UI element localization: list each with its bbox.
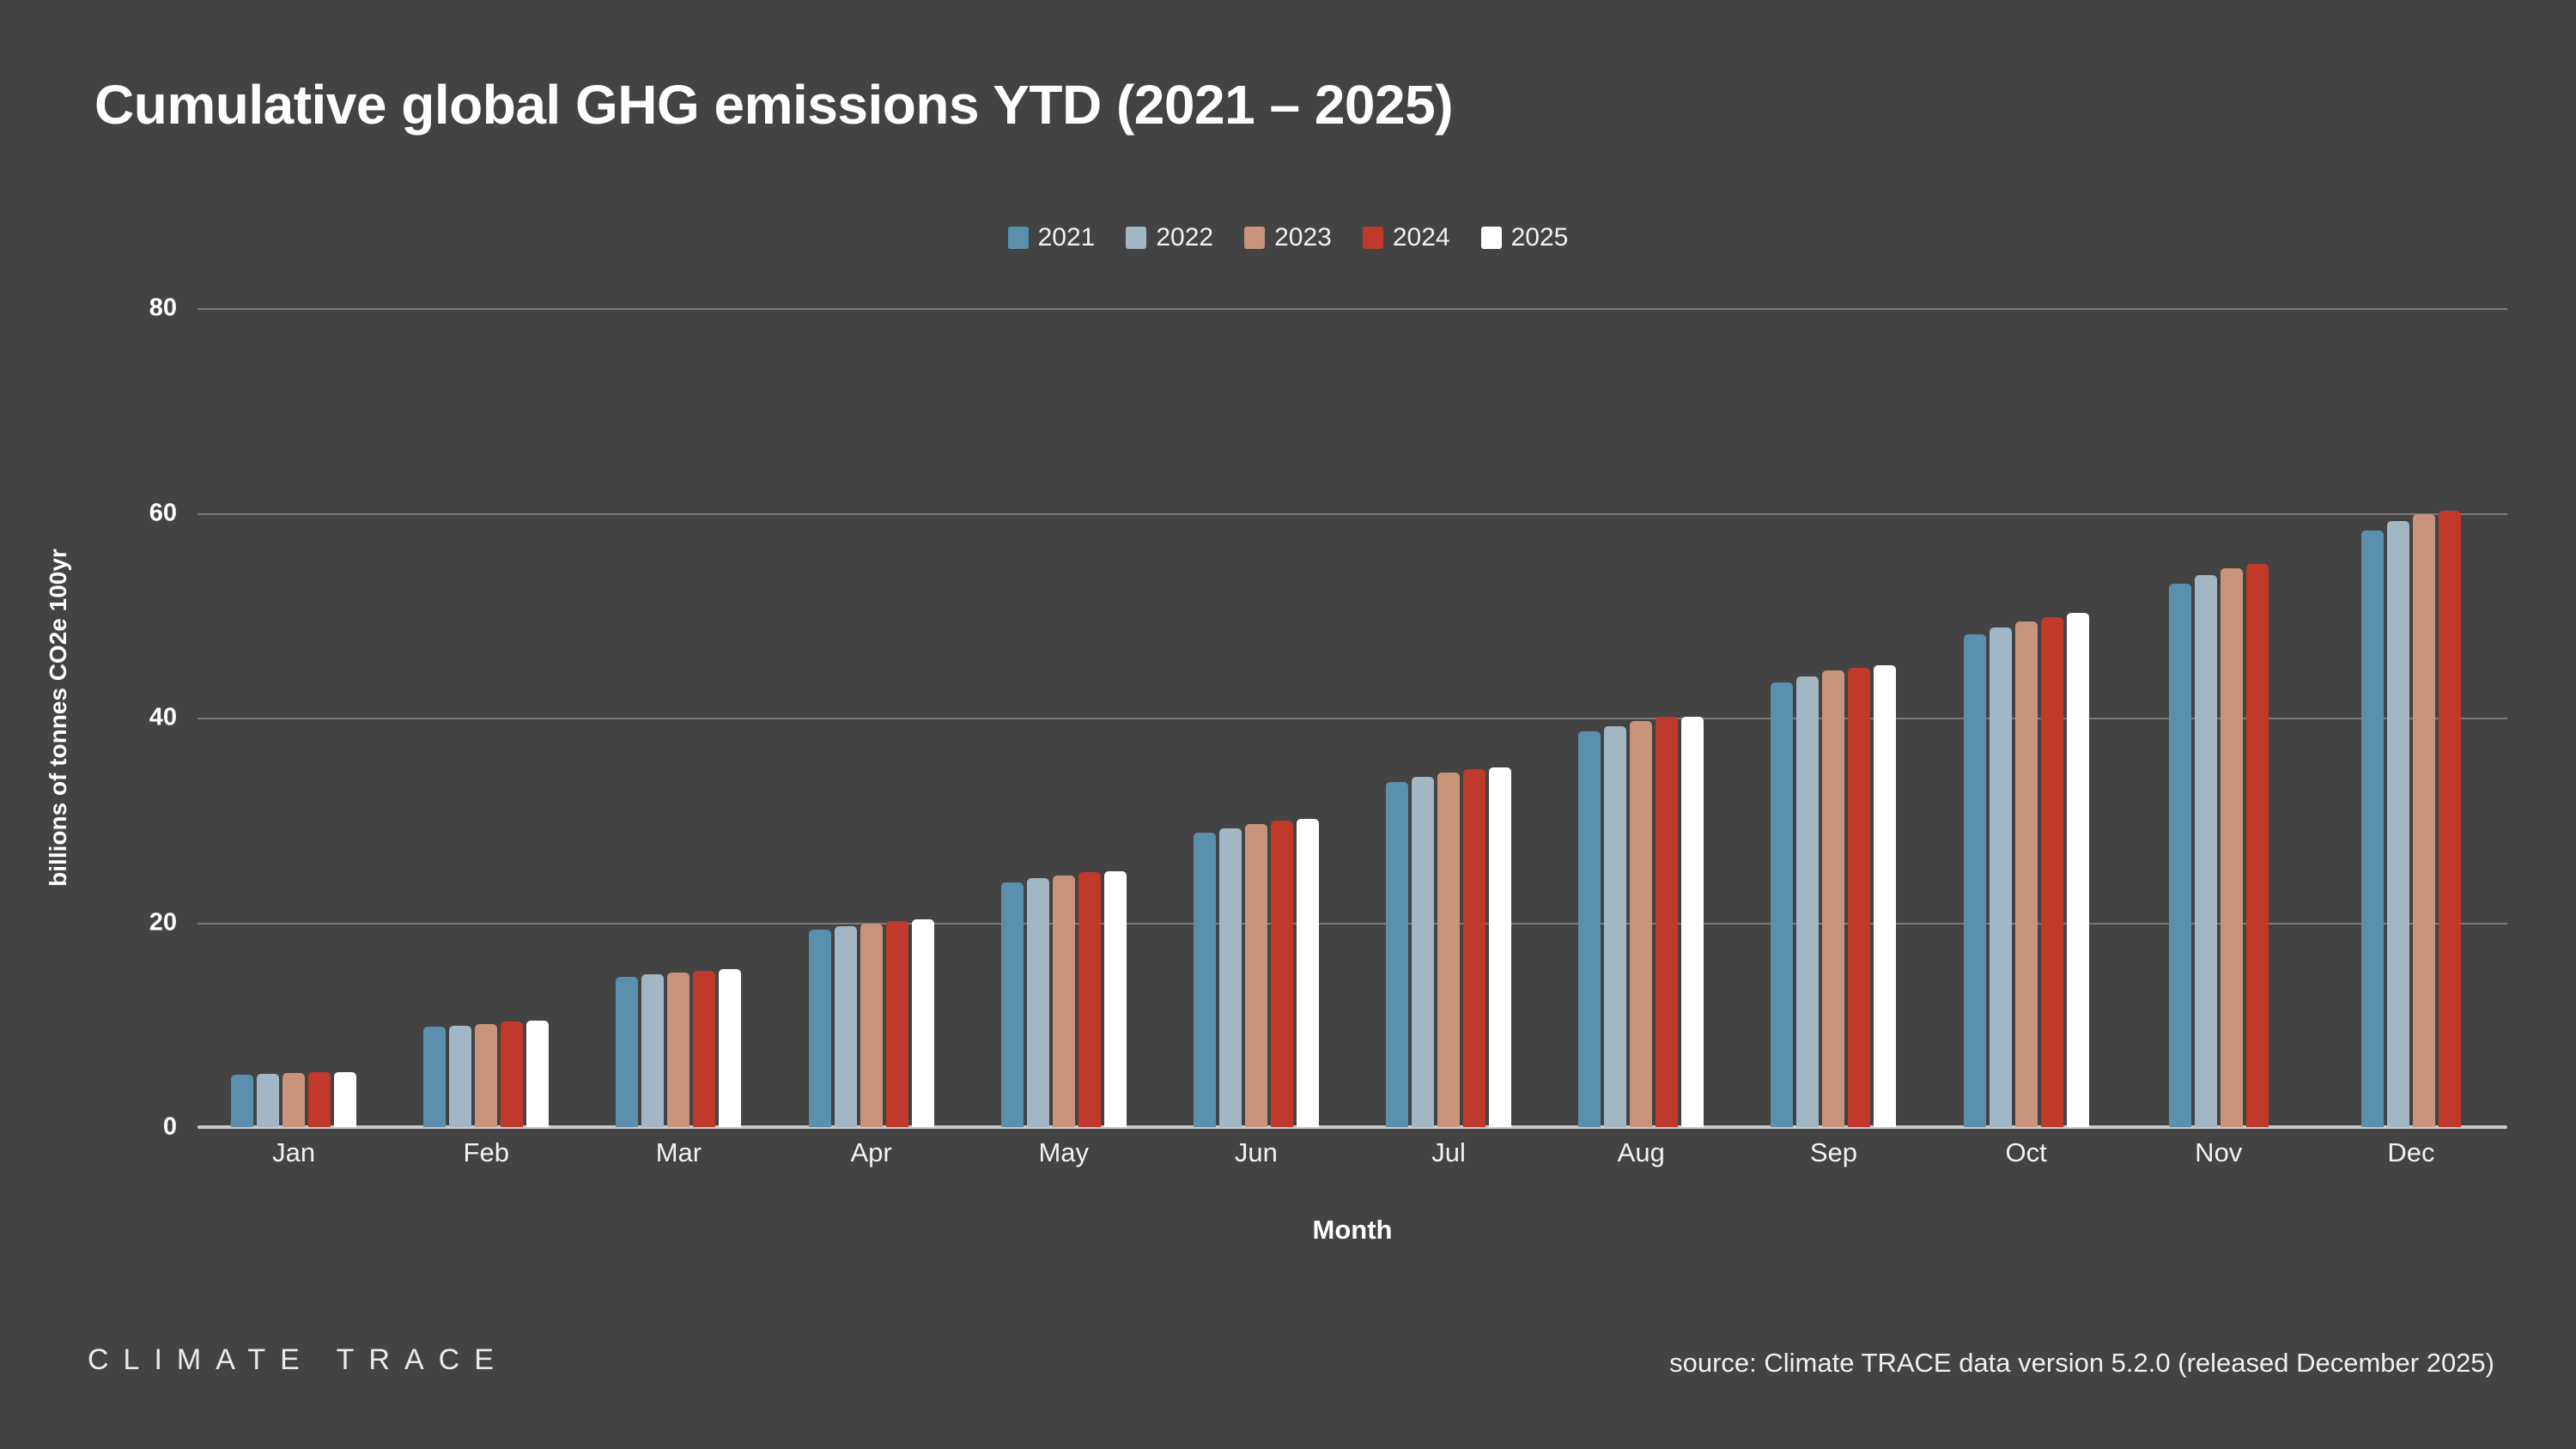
legend-label-2021: 2021 xyxy=(1038,225,1096,251)
x-tick-label-Mar: Mar xyxy=(656,1137,702,1168)
bar-Dec-2024[interactable] xyxy=(2439,511,2461,1127)
bar-Sep-2022[interactable] xyxy=(1796,676,1819,1127)
bar-group-Oct xyxy=(1930,308,2123,1127)
legend-label-2023: 2023 xyxy=(1274,225,1332,251)
bar-Mar-2023[interactable] xyxy=(667,973,690,1127)
bar-May-2021[interactable] xyxy=(1001,882,1024,1127)
bar-Feb-2025[interactable] xyxy=(526,1021,549,1127)
bar-Apr-2024[interactable] xyxy=(886,921,908,1127)
bar-Dec-2022[interactable] xyxy=(2387,521,2409,1127)
bar-Nov-2021[interactable] xyxy=(2169,584,2191,1127)
bar-group-Nov xyxy=(2123,308,2315,1127)
x-tick-label-Jan: Jan xyxy=(272,1137,315,1168)
x-tick-label-Sep: Sep xyxy=(1810,1137,1857,1168)
bar-group-Jun xyxy=(1160,308,1352,1127)
legend-item-2022[interactable]: 2022 xyxy=(1126,225,1213,251)
bar-Aug-2025[interactable] xyxy=(1681,717,1704,1127)
bar-Sep-2021[interactable] xyxy=(1771,682,1793,1127)
source-note: source: Climate TRACE data version 5.2.0… xyxy=(1669,1348,2494,1379)
bar-Jan-2023[interactable] xyxy=(283,1073,305,1127)
legend-item-2021[interactable]: 2021 xyxy=(1008,225,1096,251)
page-title: Cumulative global GHG emissions YTD (202… xyxy=(94,73,1453,136)
y-tick-label-20: 20 xyxy=(149,908,177,937)
bar-Mar-2024[interactable] xyxy=(693,971,715,1127)
bar-Feb-2023[interactable] xyxy=(475,1024,497,1127)
bar-Oct-2022[interactable] xyxy=(1990,627,2012,1127)
bar-May-2022[interactable] xyxy=(1027,878,1049,1127)
chart-legend: 20212022202320242025 xyxy=(0,225,2576,251)
bar-Oct-2024[interactable] xyxy=(2041,617,2063,1127)
bar-group-Sep xyxy=(1737,308,1929,1127)
bar-Jul-2024[interactable] xyxy=(1463,769,1485,1127)
y-tick-label-40: 40 xyxy=(149,704,177,732)
bar-Jun-2024[interactable] xyxy=(1271,821,1293,1127)
bar-Apr-2021[interactable] xyxy=(809,930,831,1127)
legend-item-2023[interactable]: 2023 xyxy=(1244,225,1332,251)
bar-Feb-2024[interactable] xyxy=(501,1022,523,1127)
bar-group-Mar xyxy=(582,308,775,1127)
bar-group-Feb xyxy=(390,308,582,1127)
x-tick-label-Aug: Aug xyxy=(1618,1137,1665,1168)
y-tick-label-0: 0 xyxy=(163,1113,177,1142)
legend-item-2024[interactable]: 2024 xyxy=(1363,225,1450,251)
bar-Sep-2025[interactable] xyxy=(1874,665,1896,1127)
x-tick-label-Jul: Jul xyxy=(1431,1137,1466,1168)
bar-Jun-2022[interactable] xyxy=(1219,828,1242,1127)
bar-Dec-2021[interactable] xyxy=(2361,530,2384,1127)
x-tick-label-May: May xyxy=(1038,1137,1089,1168)
bar-Mar-2022[interactable] xyxy=(641,974,664,1127)
bar-Apr-2022[interactable] xyxy=(835,926,857,1127)
chart-canvas: Cumulative global GHG emissions YTD (202… xyxy=(0,0,2576,1449)
bar-Jul-2025[interactable] xyxy=(1489,767,1511,1127)
bar-Sep-2024[interactable] xyxy=(1848,668,1870,1127)
legend-label-2025: 2025 xyxy=(1511,225,1569,251)
bar-Oct-2021[interactable] xyxy=(1964,634,1986,1127)
climate-trace-logo: CLIMATE TRACE xyxy=(88,1343,508,1377)
bar-group-May xyxy=(968,308,1160,1127)
y-axis-title: billions of tonnes CO2e 100yr xyxy=(45,308,82,1127)
x-tick-label-Jun: Jun xyxy=(1235,1137,1278,1168)
x-tick-label-Apr: Apr xyxy=(850,1137,891,1168)
bar-group-Dec xyxy=(2315,308,2507,1127)
bar-Dec-2023[interactable] xyxy=(2413,514,2435,1127)
legend-swatch-2023 xyxy=(1244,227,1265,249)
bar-Nov-2024[interactable] xyxy=(2246,564,2269,1127)
bar-Jan-2024[interactable] xyxy=(308,1072,331,1127)
bar-group-Apr xyxy=(775,308,968,1127)
x-tick-label-Nov: Nov xyxy=(2195,1137,2242,1168)
y-tick-label-80: 80 xyxy=(149,294,177,323)
bar-Sep-2023[interactable] xyxy=(1822,670,1844,1127)
legend-item-2025[interactable]: 2025 xyxy=(1481,225,1569,251)
bar-Jul-2023[interactable] xyxy=(1437,773,1460,1127)
bar-May-2025[interactable] xyxy=(1104,871,1127,1127)
bar-Jul-2021[interactable] xyxy=(1386,782,1408,1127)
bar-Jul-2022[interactable] xyxy=(1412,777,1434,1127)
bar-Nov-2022[interactable] xyxy=(2195,575,2217,1127)
bar-May-2023[interactable] xyxy=(1053,876,1075,1127)
x-tick-label-Dec: Dec xyxy=(2387,1137,2434,1168)
bar-Oct-2023[interactable] xyxy=(2015,621,2038,1127)
bar-series-layer xyxy=(197,308,2507,1127)
x-axis-ticks: JanFebMarAprMayJunJulAugSepOctNovDec xyxy=(197,1137,2507,1189)
bar-group-Jul xyxy=(1352,308,1545,1127)
x-tick-label-Oct: Oct xyxy=(2005,1137,2046,1168)
y-tick-label-60: 60 xyxy=(149,499,177,527)
bar-Nov-2023[interactable] xyxy=(2221,568,2243,1127)
bar-Aug-2021[interactable] xyxy=(1578,731,1601,1127)
bar-Aug-2023[interactable] xyxy=(1630,721,1652,1127)
legend-swatch-2021 xyxy=(1008,227,1029,249)
legend-label-2022: 2022 xyxy=(1156,225,1213,251)
legend-label-2024: 2024 xyxy=(1393,225,1450,251)
y-axis-ticks: 020406080 xyxy=(0,308,197,1127)
bar-May-2024[interactable] xyxy=(1078,872,1101,1127)
bar-Jan-2022[interactable] xyxy=(257,1074,279,1127)
legend-swatch-2024 xyxy=(1363,227,1383,249)
bar-Jun-2021[interactable] xyxy=(1194,833,1216,1127)
bar-Mar-2025[interactable] xyxy=(719,969,741,1127)
x-axis-title: Month xyxy=(197,1215,2507,1246)
bar-Jan-2021[interactable] xyxy=(231,1075,253,1127)
bar-Oct-2025[interactable] xyxy=(2067,613,2089,1127)
bar-Apr-2025[interactable] xyxy=(912,919,934,1127)
bar-group-Aug xyxy=(1545,308,1737,1127)
bar-Aug-2022[interactable] xyxy=(1604,726,1626,1127)
x-tick-label-Feb: Feb xyxy=(464,1137,509,1168)
bar-group-Jan xyxy=(197,308,390,1127)
bar-Jun-2025[interactable] xyxy=(1297,819,1319,1127)
bar-Feb-2021[interactable] xyxy=(423,1027,446,1127)
bar-Mar-2021[interactable] xyxy=(616,977,638,1127)
bar-Jun-2023[interactable] xyxy=(1245,824,1267,1127)
bar-Feb-2022[interactable] xyxy=(449,1026,471,1127)
legend-swatch-2022 xyxy=(1126,227,1146,249)
bar-Apr-2023[interactable] xyxy=(860,924,883,1127)
bar-Aug-2024[interactable] xyxy=(1656,717,1678,1127)
bar-Jan-2025[interactable] xyxy=(334,1072,356,1127)
legend-swatch-2025 xyxy=(1481,227,1502,249)
